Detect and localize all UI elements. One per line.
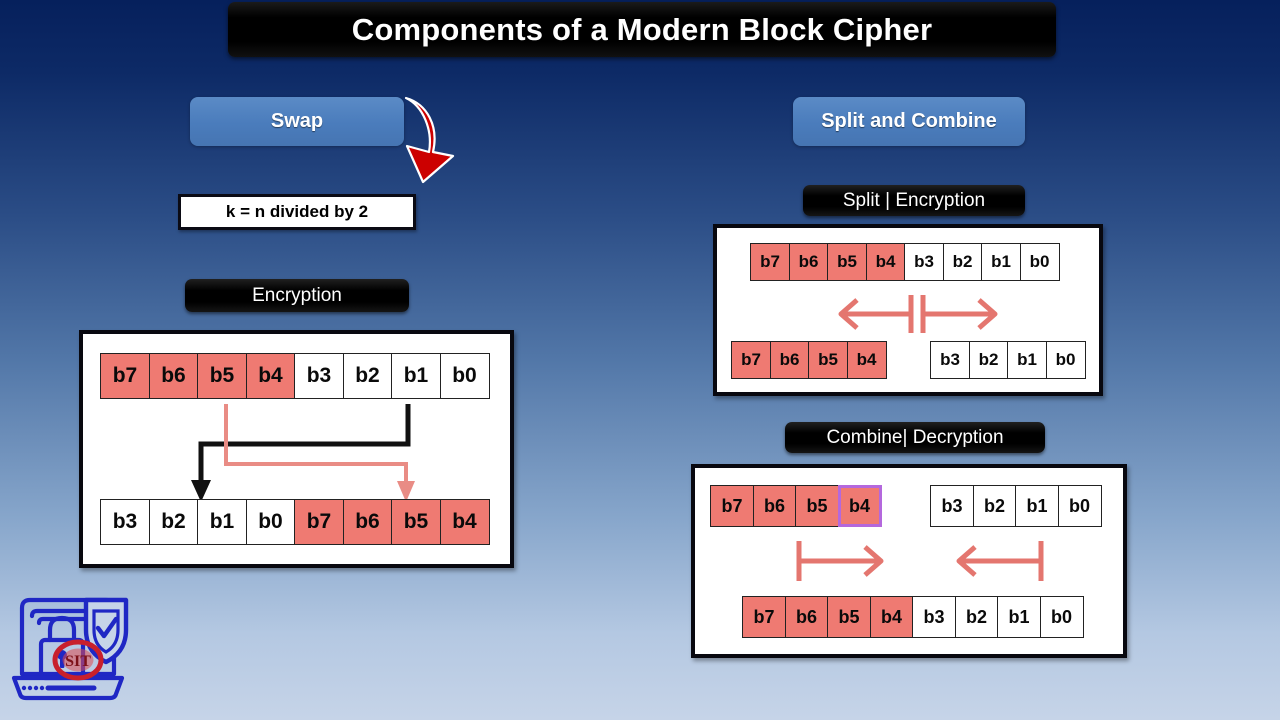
split-output-left-cell: b7 bbox=[731, 341, 771, 379]
combine-input-left-cell: b4 bbox=[838, 485, 882, 527]
swap-output-cell: b2 bbox=[149, 499, 199, 545]
swap-input-cell-label: b0 bbox=[452, 364, 477, 388]
combine-input-left-cell: b7 bbox=[710, 485, 754, 527]
swap-input-cell: b1 bbox=[391, 353, 441, 399]
swap-output-cell-label: b5 bbox=[404, 510, 429, 534]
swap-output-cell: b6 bbox=[343, 499, 393, 545]
split-input-cell: b0 bbox=[1020, 243, 1060, 281]
combine-input-right-bitrow: b3b2b1b0 bbox=[930, 485, 1102, 527]
combine-output-cell-label: b4 bbox=[881, 607, 902, 628]
split-input-cell: b5 bbox=[827, 243, 867, 281]
swap-input-cell: b5 bbox=[197, 353, 247, 399]
caption-combine-decryption-label: Combine| Decryption bbox=[826, 427, 1003, 449]
combine-output-cell-label: b3 bbox=[923, 607, 944, 628]
split-input-cell-label: b3 bbox=[914, 252, 934, 272]
section-header-swap[interactable]: Swap bbox=[190, 97, 404, 146]
combine-input-left-cell-label: b5 bbox=[806, 496, 827, 517]
split-output-right-cell: b1 bbox=[1007, 341, 1047, 379]
combine-output-cell: b3 bbox=[912, 596, 956, 638]
combine-right-arrow-icon bbox=[793, 538, 893, 584]
combine-input-right-cell-label: b2 bbox=[984, 496, 1005, 517]
combine-input-left-cell: b5 bbox=[795, 485, 839, 527]
split-input-cell-label: b4 bbox=[876, 252, 896, 272]
swap-diagram-frame: b7b6b5b4b3b2b1b0 b3b2b1b0b7b6b5b4 bbox=[79, 330, 514, 568]
combine-output-cell: b7 bbox=[742, 596, 786, 638]
split-output-right-cell-label: b0 bbox=[1056, 350, 1076, 370]
section-header-swap-label: Swap bbox=[271, 110, 323, 133]
combine-input-right-cell-label: b3 bbox=[941, 496, 962, 517]
split-input-cell-label: b5 bbox=[837, 252, 857, 272]
swap-output-cell-label: b1 bbox=[210, 510, 235, 534]
section-header-split-and-combine-label: Split and Combine bbox=[821, 110, 997, 133]
combine-output-cell-label: b0 bbox=[1051, 607, 1072, 628]
swap-input-cell: b7 bbox=[100, 353, 150, 399]
split-output-right-bitrow: b3b2b1b0 bbox=[930, 341, 1086, 379]
combine-left-arrow-icon bbox=[949, 538, 1049, 584]
caption-split-encryption: Split | Encryption bbox=[803, 185, 1025, 216]
swap-input-cell-label: b2 bbox=[355, 364, 380, 388]
swap-output-bitrow: b3b2b1b0b7b6b5b4 bbox=[100, 499, 490, 545]
page-title: Components of a Modern Block Cipher bbox=[352, 12, 933, 48]
swap-output-cell-label: b7 bbox=[307, 510, 332, 534]
swap-output-cell-label: b6 bbox=[355, 510, 380, 534]
split-output-right-cell-label: b2 bbox=[979, 350, 999, 370]
combine-output-cell-label: b6 bbox=[796, 607, 817, 628]
swap-output-cell: b1 bbox=[197, 499, 247, 545]
split-input-cell-label: b2 bbox=[953, 252, 973, 272]
swap-input-cell: b0 bbox=[440, 353, 490, 399]
split-output-left-bitrow: b7b6b5b4 bbox=[731, 341, 887, 379]
split-output-left-cell: b5 bbox=[808, 341, 848, 379]
swap-output-cell-label: b2 bbox=[161, 510, 186, 534]
black-swap-connector-arrow-icon bbox=[191, 404, 408, 502]
combine-input-right-cell-label: b1 bbox=[1026, 496, 1047, 517]
combine-output-cell: b2 bbox=[955, 596, 999, 638]
combine-output-cell-label: b1 bbox=[1008, 607, 1029, 628]
split-output-left-cell: b6 bbox=[770, 341, 810, 379]
combine-input-left-cell: b6 bbox=[753, 485, 797, 527]
caption-encryption: Encryption bbox=[185, 279, 409, 312]
split-output-left-cell-label: b7 bbox=[741, 350, 761, 370]
split-output-left-cell-label: b6 bbox=[780, 350, 800, 370]
swap-input-cell-label: b1 bbox=[404, 364, 429, 388]
caption-split-encryption-label: Split | Encryption bbox=[843, 190, 985, 212]
split-output-right-cell: b3 bbox=[930, 341, 970, 379]
combine-output-cell-label: b7 bbox=[753, 607, 774, 628]
swap-output-cell: b4 bbox=[440, 499, 490, 545]
split-output-left-cell: b4 bbox=[847, 341, 887, 379]
swap-input-cell: b6 bbox=[149, 353, 199, 399]
split-output-right-cell-label: b1 bbox=[1017, 350, 1037, 370]
section-header-split-and-combine[interactable]: Split and Combine bbox=[793, 97, 1025, 146]
swap-input-cell-label: b3 bbox=[307, 364, 332, 388]
red-swap-connector-arrow-icon bbox=[226, 404, 415, 502]
swap-output-cell: b5 bbox=[391, 499, 441, 545]
swap-input-cell-label: b7 bbox=[113, 364, 138, 388]
swap-output-cell-label: b3 bbox=[113, 510, 138, 534]
combine-output-cell: b0 bbox=[1040, 596, 1084, 638]
split-output-right-cell: b2 bbox=[969, 341, 1009, 379]
curved-down-arrow-icon bbox=[393, 90, 463, 190]
split-input-cell-label: b1 bbox=[991, 252, 1011, 272]
logo-shield-icon bbox=[86, 600, 126, 662]
split-input-cell: b6 bbox=[789, 243, 829, 281]
combine-output-cell-label: b2 bbox=[966, 607, 987, 628]
slide-canvas: Components of a Modern Block Cipher Swap… bbox=[0, 0, 1280, 720]
swap-input-cell-label: b6 bbox=[161, 364, 186, 388]
split-diagram-frame: b7b6b5b4b3b2b1b0 b7b6b5b4 b3b2b1b0 bbox=[713, 224, 1103, 396]
combine-input-left-cell-label: b7 bbox=[721, 496, 742, 517]
swap-output-cell: b0 bbox=[246, 499, 296, 545]
split-input-cell: b4 bbox=[866, 243, 906, 281]
combine-output-cell: b4 bbox=[870, 596, 914, 638]
combine-input-left-bitrow: b7b6b5b4 bbox=[710, 485, 882, 527]
sit-cybersecurity-logo: SIT bbox=[8, 578, 128, 710]
combine-input-right-cell: b2 bbox=[973, 485, 1017, 527]
combine-diagram-frame: b7b6b5b4 b3b2b1b0 b7b6b5b4b3b2b1b0 bbox=[691, 464, 1127, 658]
logo-keyboard-dots bbox=[22, 686, 44, 690]
split-input-cell: b1 bbox=[981, 243, 1021, 281]
swap-input-bitrow: b7b6b5b4b3b2b1b0 bbox=[100, 353, 490, 399]
combine-input-right-cell: b0 bbox=[1058, 485, 1102, 527]
split-output-right-cell: b0 bbox=[1046, 341, 1086, 379]
swap-input-cell-label: b5 bbox=[210, 364, 235, 388]
split-input-cell: b2 bbox=[943, 243, 983, 281]
split-input-bitrow: b7b6b5b4b3b2b1b0 bbox=[750, 243, 1060, 281]
combine-output-cell: b6 bbox=[785, 596, 829, 638]
split-output-right-cell-label: b3 bbox=[940, 350, 960, 370]
swap-output-cell: b7 bbox=[294, 499, 344, 545]
swap-input-cell: b3 bbox=[294, 353, 344, 399]
formula-box: k = n divided by 2 bbox=[178, 194, 416, 230]
swap-input-cell-label: b4 bbox=[258, 364, 283, 388]
swap-input-cell: b2 bbox=[343, 353, 393, 399]
split-output-left-cell-label: b5 bbox=[818, 350, 838, 370]
swap-output-cell: b3 bbox=[100, 499, 150, 545]
combine-output-cell-label: b5 bbox=[838, 607, 859, 628]
caption-combine-decryption: Combine| Decryption bbox=[785, 422, 1045, 453]
caption-encryption-label: Encryption bbox=[252, 285, 342, 307]
combine-input-left-cell-label: b6 bbox=[764, 496, 785, 517]
split-input-cell-label: b7 bbox=[760, 252, 780, 272]
split-input-cell-label: b6 bbox=[799, 252, 819, 272]
combine-output-cell: b1 bbox=[997, 596, 1041, 638]
combine-output-cell: b5 bbox=[827, 596, 871, 638]
split-input-cell: b3 bbox=[904, 243, 944, 281]
logo-emblem-text: SIT bbox=[65, 653, 91, 670]
combine-input-right-cell: b1 bbox=[1015, 485, 1059, 527]
split-input-cell-label: b0 bbox=[1030, 252, 1050, 272]
swap-output-cell-label: b4 bbox=[452, 510, 477, 534]
formula-text: k = n divided by 2 bbox=[226, 202, 368, 222]
combine-output-bitrow: b7b6b5b4b3b2b1b0 bbox=[742, 596, 1084, 638]
combine-input-right-cell-label: b0 bbox=[1069, 496, 1090, 517]
swap-output-cell-label: b0 bbox=[258, 510, 283, 534]
split-output-left-cell-label: b4 bbox=[857, 350, 877, 370]
split-input-cell: b7 bbox=[750, 243, 790, 281]
swap-input-cell: b4 bbox=[246, 353, 296, 399]
combine-input-left-cell-label: b4 bbox=[849, 496, 870, 517]
split-outward-arrows-icon bbox=[829, 290, 1009, 338]
combine-input-right-cell: b3 bbox=[930, 485, 974, 527]
slide-title-bar: Components of a Modern Block Cipher bbox=[228, 2, 1056, 57]
